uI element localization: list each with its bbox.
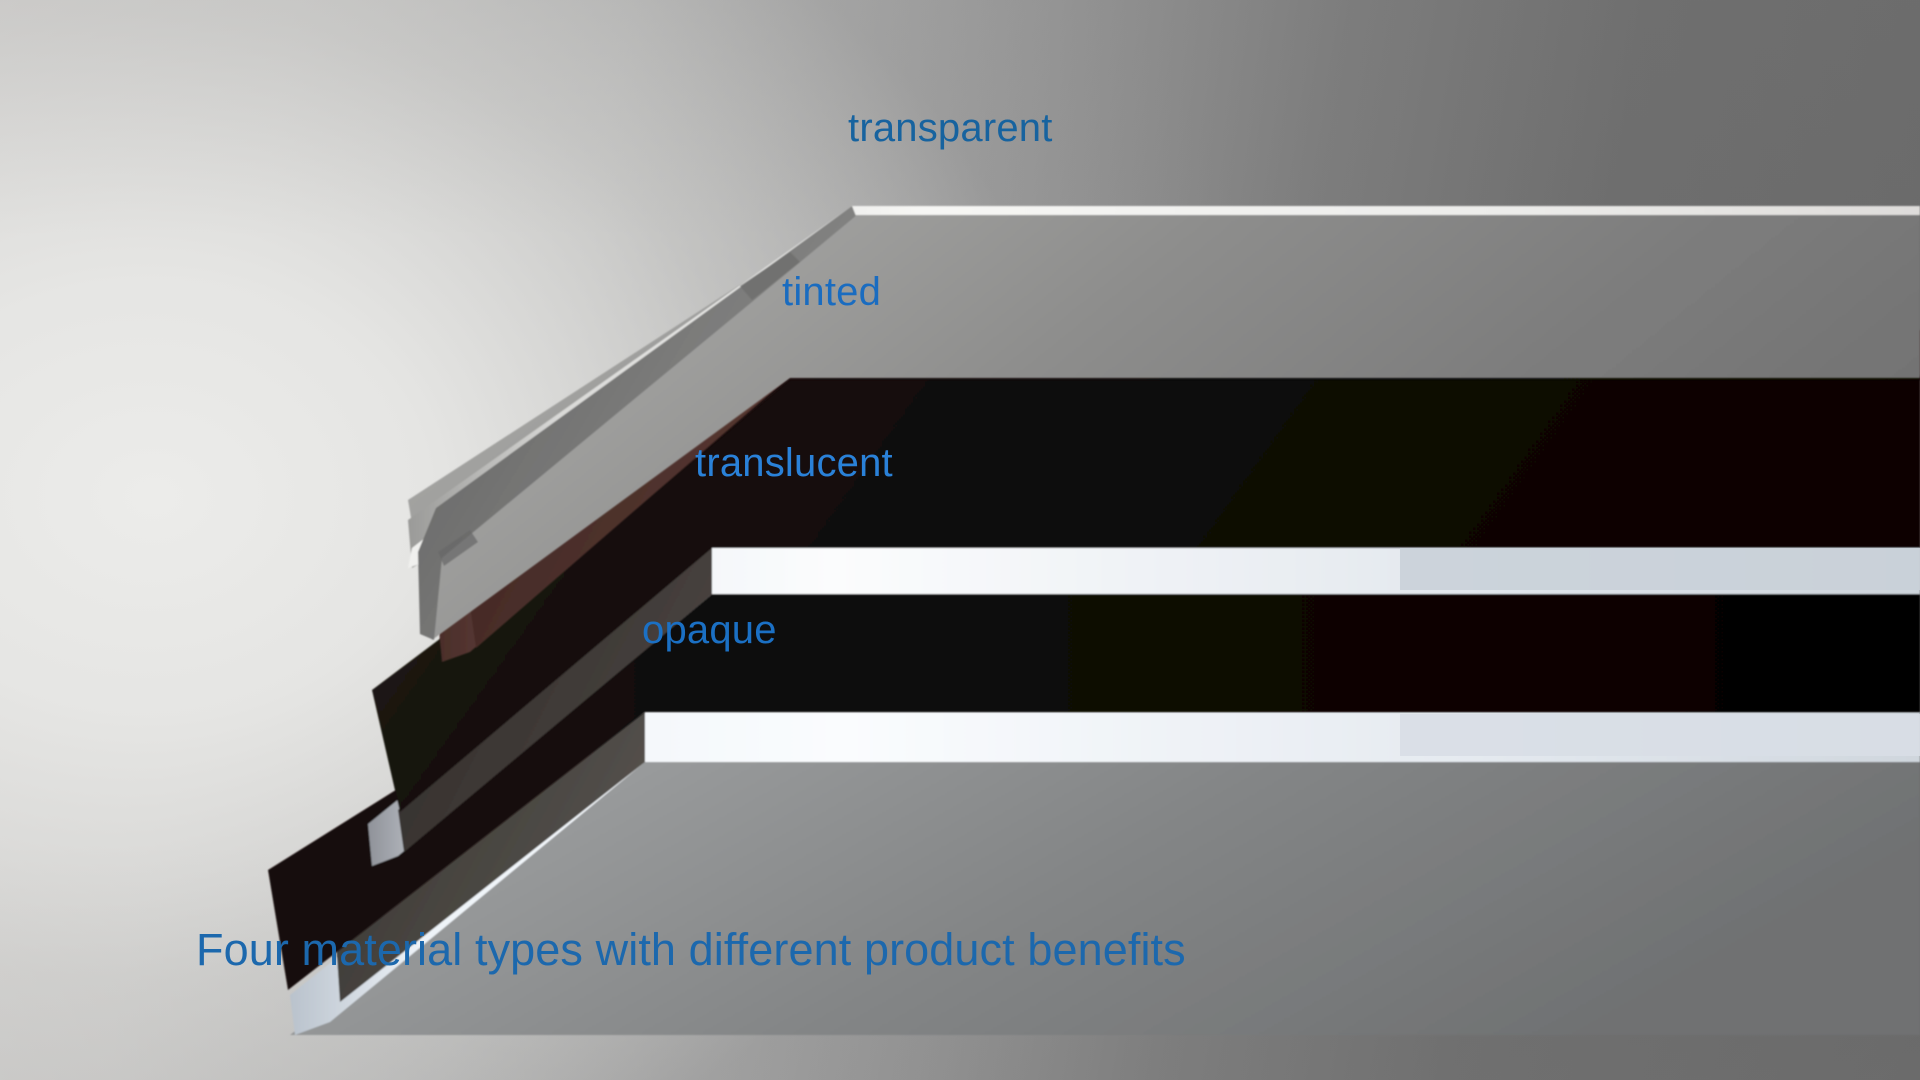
label-tinted: tinted (782, 272, 881, 312)
right-edge-highlight-translucent (1400, 548, 1920, 590)
label-transparent: transparent (848, 108, 1053, 148)
material-stack-illustration (0, 0, 1920, 1080)
label-translucent: translucent (695, 443, 893, 483)
scene-stage: transparent tinted translucent opaque Fo… (0, 0, 1920, 1080)
caption-text: Four material types with different produ… (196, 927, 1186, 972)
right-edge-highlight-opaque (1400, 714, 1920, 756)
label-opaque: opaque (642, 610, 777, 650)
